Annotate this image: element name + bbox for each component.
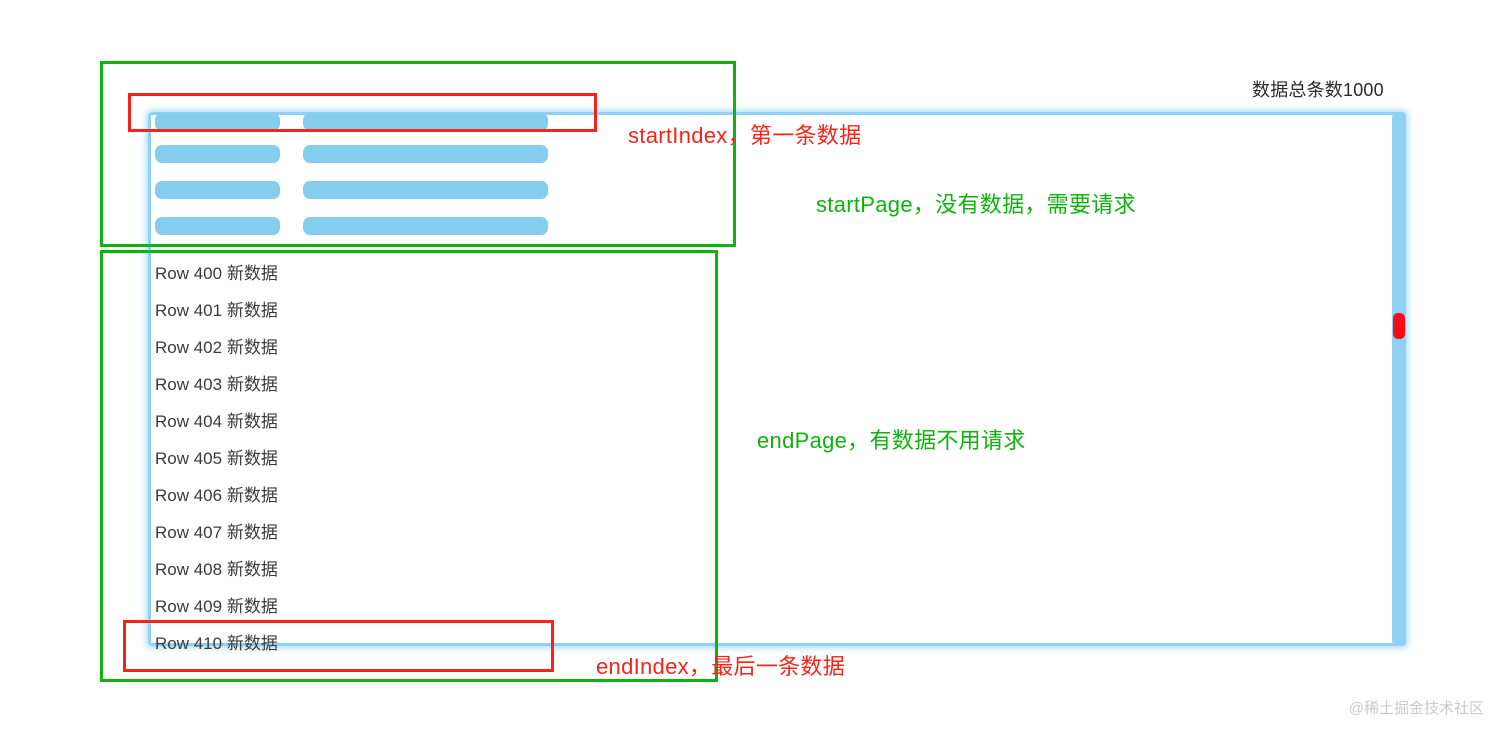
annotation-box-start-index: [128, 93, 597, 132]
watermark-label: @稀土掘金技术社区: [1349, 697, 1484, 718]
vertical-scrollbar-thumb[interactable]: [1393, 313, 1405, 339]
total-count-label: 数据总条数1000: [1252, 76, 1384, 102]
vertical-scrollbar-track[interactable]: [1392, 115, 1406, 643]
annotation-box-end-page: [100, 250, 718, 682]
annotation-label-start-page: startPage，没有数据，需要请求: [816, 187, 1136, 219]
annotation-label-end-page: endPage，有数据不用请求: [757, 423, 1026, 455]
annotation-label-start-index: startIndex，第一条数据: [628, 118, 861, 150]
annotation-label-end-index: endIndex，最后一条数据: [596, 649, 845, 681]
annotation-box-start-page: [100, 61, 736, 247]
diagram-canvas: 数据总条数1000 Row 400 新数据 Row: [0, 0, 1512, 732]
annotation-box-end-index: [123, 620, 554, 672]
